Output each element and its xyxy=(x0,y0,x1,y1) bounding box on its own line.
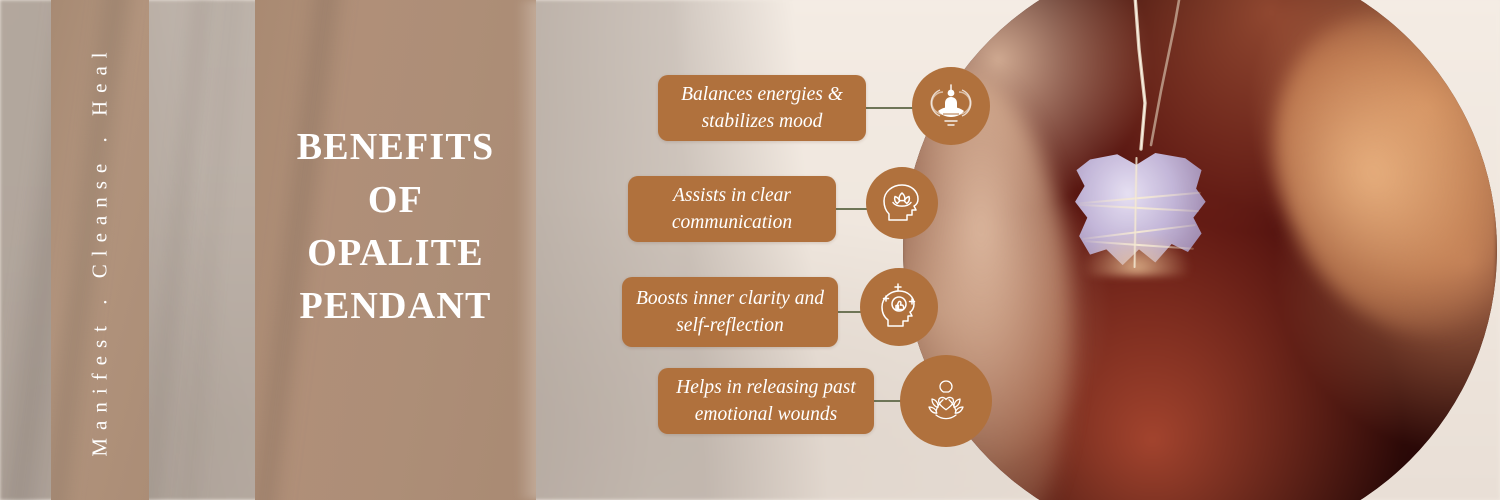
benefit-item-2[interactable]: Assists in clear communication xyxy=(628,176,836,242)
benefit-text-2: Assists in clear communication xyxy=(672,182,792,236)
meditating-person-icon[interactable] xyxy=(912,67,990,145)
benefit-item-3[interactable]: Boosts inner clarity and self-reflection xyxy=(622,277,838,347)
benefit-pill-1[interactable]: Balances energies & stabilizes mood xyxy=(658,75,866,141)
headline-line-4: PENDANT xyxy=(255,280,536,333)
headline-line-2: OF xyxy=(255,174,536,227)
benefit-pill-3[interactable]: Boosts inner clarity and self-reflection xyxy=(622,277,838,347)
heart-hands-healing-icon[interactable] xyxy=(900,355,992,447)
title-panel: BENEFITS OF OPALITE PENDANT xyxy=(255,0,536,500)
opalite-butterfly-pendant xyxy=(1071,149,1207,281)
benefit-pill-4[interactable]: Helps in releasing past emotional wounds xyxy=(658,368,874,434)
tagline-strip: Manifest . Cleanse . Heal xyxy=(51,0,149,500)
tagline-text: Manifest . Cleanse . Heal xyxy=(88,44,113,456)
benefit-text-4: Helps in releasing past emotional wounds xyxy=(676,374,856,428)
benefit-item-1[interactable]: Balances energies & stabilizes mood xyxy=(658,75,866,141)
benefits-banner: Manifest . Cleanse . Heal BENEFITS OF OP… xyxy=(0,0,1500,500)
benefit-pill-2[interactable]: Assists in clear communication xyxy=(628,176,836,242)
product-photo-circle xyxy=(903,0,1497,500)
benefit-text-1: Balances energies & stabilizes mood xyxy=(681,81,843,135)
headline-line-3: OPALITE xyxy=(255,227,536,280)
head-lotus-mindfulness-icon[interactable] xyxy=(866,167,938,239)
benefit-item-4[interactable]: Helps in releasing past emotional wounds xyxy=(658,368,874,434)
head-thumbs-up-wellbeing-icon[interactable] xyxy=(860,268,938,346)
page-title: BENEFITS OF OPALITE PENDANT xyxy=(255,121,536,333)
headline-line-1: BENEFITS xyxy=(255,121,536,174)
benefit-text-3: Boosts inner clarity and self-reflection xyxy=(636,285,824,339)
